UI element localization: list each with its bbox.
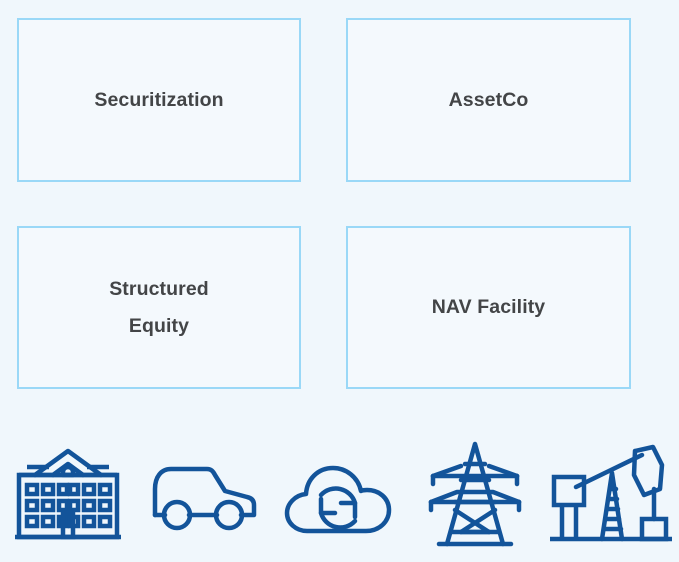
icon-cell-oil-pumpjack <box>543 440 679 550</box>
institution-building-icon <box>9 445 127 545</box>
diagram-canvas: Securitization AssetCo Structured Equity… <box>0 0 679 562</box>
structure-box-label: AssetCo <box>439 82 539 119</box>
structure-box-label: NAV Facility <box>422 289 556 326</box>
icon-cell-institution <box>0 440 136 550</box>
structure-box-grid: Securitization AssetCo Structured Equity… <box>0 0 679 410</box>
icon-cell-cloud-sync <box>272 440 408 550</box>
structure-box-label: Structured Equity <box>99 271 219 345</box>
structure-box-securitization[interactable]: Securitization <box>17 18 301 182</box>
car-icon <box>149 455 259 535</box>
cloud-sync-icon <box>280 449 398 541</box>
power-transmission-tower-icon <box>427 440 523 550</box>
icon-cell-power-tower <box>407 440 543 550</box>
icon-cell-car <box>136 440 272 550</box>
oil-pumpjack-icon <box>546 443 676 547</box>
structure-box-label: Securitization <box>84 82 233 119</box>
asset-class-icon-row <box>0 428 679 562</box>
structure-box-structured-equity[interactable]: Structured Equity <box>17 226 301 389</box>
structure-box-nav-facility[interactable]: NAV Facility <box>346 226 631 389</box>
structure-box-assetco[interactable]: AssetCo <box>346 18 631 182</box>
